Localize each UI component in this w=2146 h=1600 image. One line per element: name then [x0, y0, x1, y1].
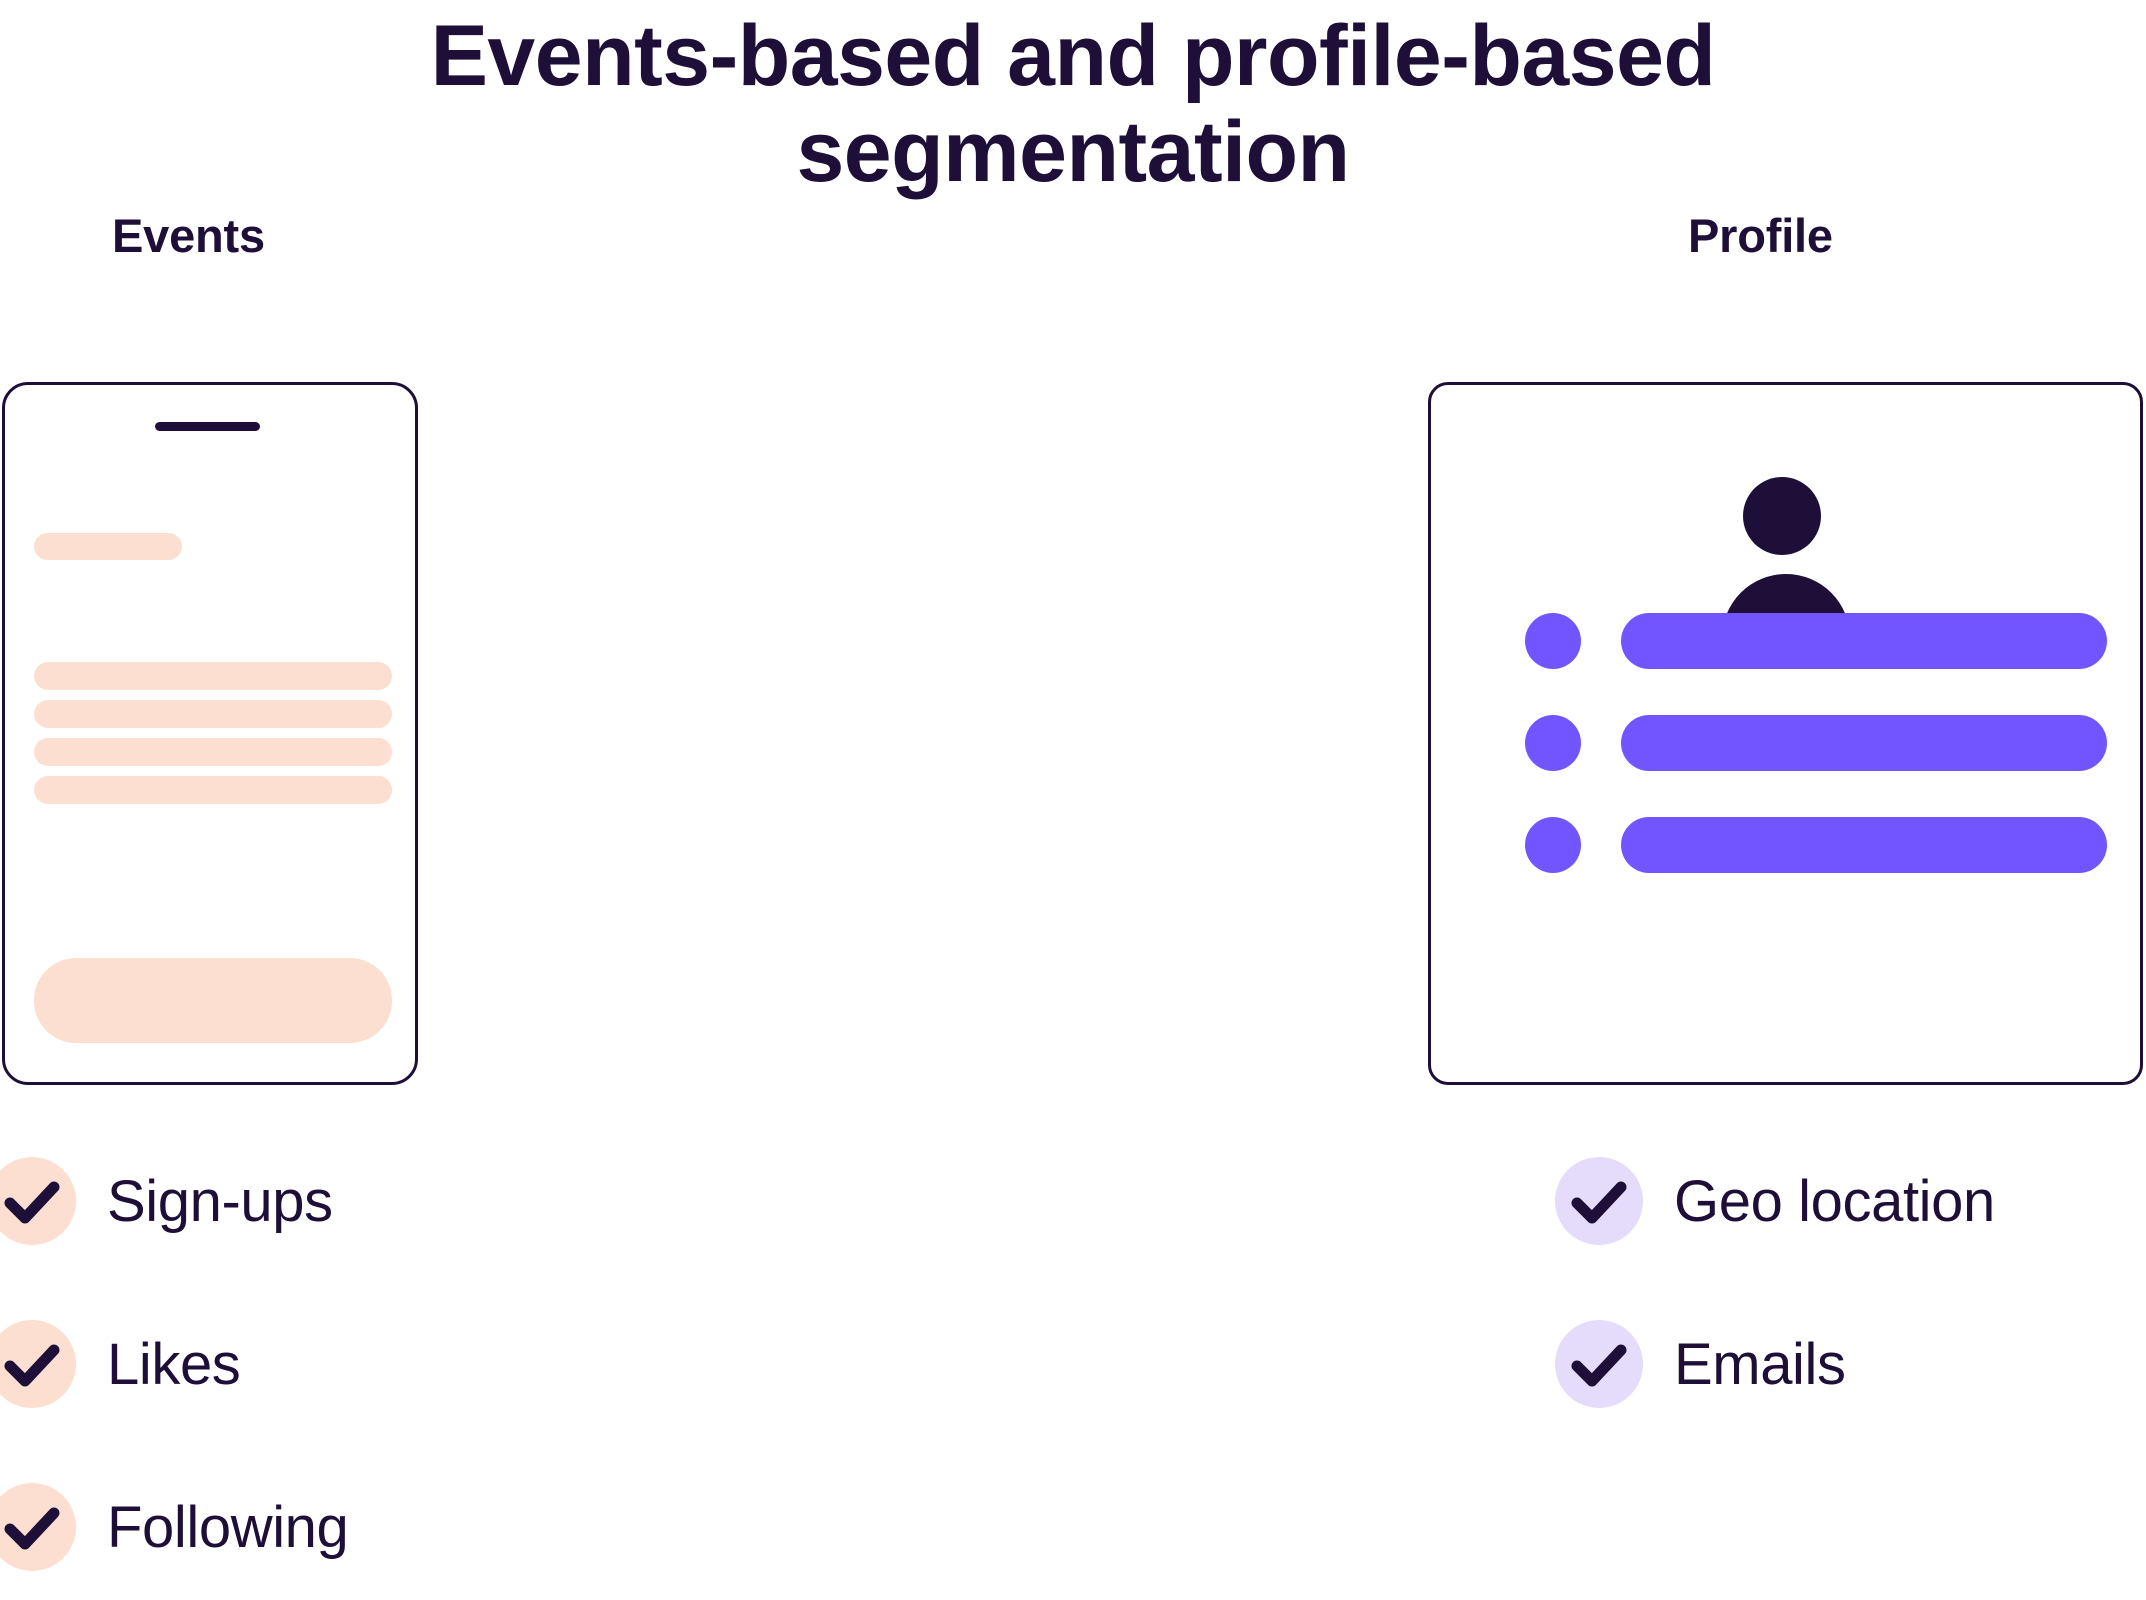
placeholder-text-line: [34, 700, 392, 728]
speaker-bar-icon: [155, 422, 260, 431]
list-item[interactable]: Sign-ups: [0, 1157, 333, 1245]
list-item[interactable]: Emails: [1555, 1320, 1846, 1408]
events-column-heading: Events: [112, 208, 265, 263]
profile-card: [1428, 382, 2143, 1085]
bullet-dot-icon: [1525, 817, 1581, 873]
check-icon: [0, 1157, 76, 1245]
profile-checklist: Geo location Emails: [1555, 1157, 2146, 1577]
list-item-label: Emails: [1674, 1331, 1846, 1398]
list-item-label: Geo location: [1674, 1168, 1995, 1235]
profile-field-row: [1525, 817, 2107, 873]
list-item[interactable]: Likes: [0, 1320, 240, 1408]
check-icon: [1555, 1157, 1643, 1245]
check-icon: [1555, 1320, 1643, 1408]
list-item[interactable]: Following: [0, 1483, 348, 1571]
events-checklist: Sign-ups Likes Following: [0, 1157, 988, 1577]
field-bar: [1621, 715, 2107, 771]
bullet-dot-icon: [1525, 613, 1581, 669]
person-head-shape: [1743, 477, 1821, 555]
list-item-label: Following: [107, 1494, 348, 1561]
list-item-label: Sign-ups: [107, 1168, 333, 1235]
placeholder-text-line: [34, 738, 392, 766]
list-item[interactable]: Geo location: [1555, 1157, 1995, 1245]
placeholder-text-line: [34, 776, 392, 804]
list-item-label: Likes: [107, 1331, 240, 1398]
placeholder-short-pill: [34, 533, 182, 560]
bullet-dot-icon: [1525, 715, 1581, 771]
profile-field-row: [1525, 613, 2107, 669]
placeholder-text-line: [34, 662, 392, 690]
page-title: Events-based and profile-based segmentat…: [0, 8, 2146, 201]
check-icon: [0, 1320, 76, 1408]
placeholder-large-block: [34, 958, 392, 1043]
profile-column-heading: Profile: [1688, 208, 1833, 263]
events-phone-card: [2, 382, 418, 1085]
profile-field-row: [1525, 715, 2107, 771]
check-icon: [0, 1483, 76, 1571]
field-bar: [1621, 613, 2107, 669]
field-bar: [1621, 817, 2107, 873]
